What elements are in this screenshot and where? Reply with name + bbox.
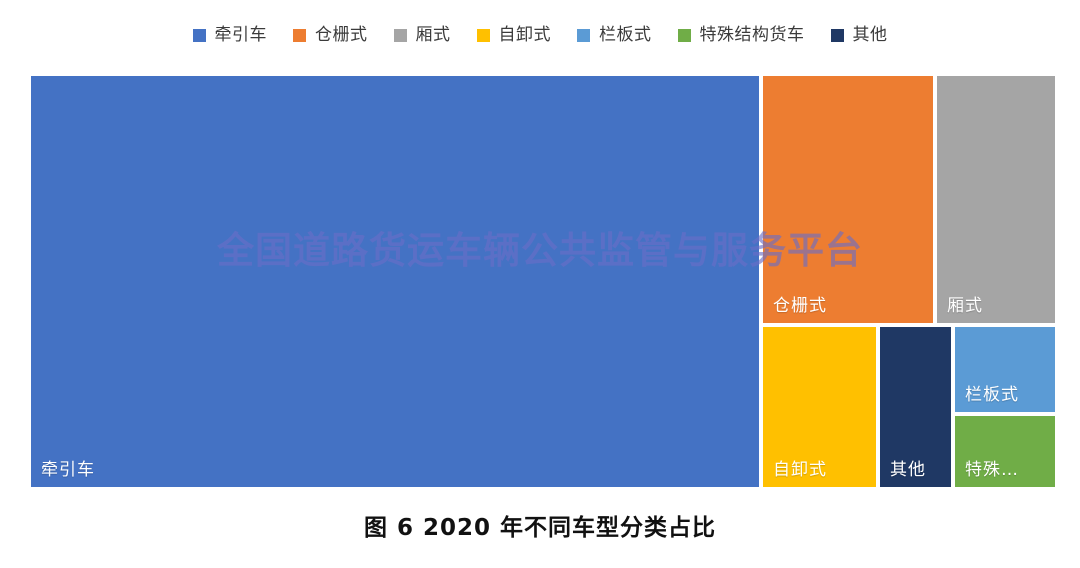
legend-item-label: 牵引车 [215, 27, 268, 44]
legend-item-van[interactable]: 厢式 [394, 27, 451, 44]
legend-swatch-icon [293, 29, 306, 42]
legend-item-label: 栏板式 [599, 27, 652, 44]
treemap-tile-label: 自卸式 [773, 461, 827, 481]
treemap-tile-tractor[interactable]: 牵引车 [31, 76, 759, 487]
legend-item-label: 其他 [853, 27, 888, 44]
legend-item-tractor[interactable]: 牵引车 [193, 27, 268, 44]
treemap-chart: 牵引车 仓栅式 厢式 自卸式 其他 栏板式 特殊… [31, 76, 1055, 487]
treemap-tile-dump[interactable]: 自卸式 [763, 327, 876, 487]
legend-item-label: 仓栅式 [315, 27, 368, 44]
chart-legend: 牵引车 仓栅式 厢式 自卸式 栏板式 特殊结构货车 其他 [0, 22, 1080, 48]
treemap-tile-stake[interactable]: 仓栅式 [763, 76, 933, 323]
treemap-tile-special-structure[interactable]: 特殊… [955, 416, 1055, 487]
legend-swatch-icon [577, 29, 590, 42]
legend-swatch-icon [477, 29, 490, 42]
legend-item-special-structure[interactable]: 特殊结构货车 [678, 27, 805, 44]
legend-item-stake[interactable]: 仓栅式 [293, 27, 368, 44]
treemap-tile-label: 栏板式 [965, 386, 1019, 406]
treemap-tile-van[interactable]: 厢式 [937, 76, 1055, 323]
legend-swatch-icon [678, 29, 691, 42]
treemap-tile-label: 厢式 [947, 297, 983, 317]
figure-caption: 图 6 2020 年不同车型分类占比 [0, 515, 1080, 543]
legend-item-label: 特殊结构货车 [700, 27, 805, 44]
legend-item-dump[interactable]: 自卸式 [477, 27, 552, 44]
treemap-tile-label: 特殊… [965, 461, 1019, 481]
treemap-tile-label: 牵引车 [41, 461, 95, 481]
legend-swatch-icon [394, 29, 407, 42]
legend-item-other[interactable]: 其他 [831, 27, 888, 44]
treemap-tile-label: 其他 [890, 461, 926, 481]
treemap-tile-flatbed[interactable]: 栏板式 [955, 327, 1055, 412]
legend-item-flatbed[interactable]: 栏板式 [577, 27, 652, 44]
legend-item-label: 自卸式 [499, 27, 552, 44]
legend-swatch-icon [831, 29, 844, 42]
treemap-tile-label: 仓栅式 [773, 297, 827, 317]
legend-swatch-icon [193, 29, 206, 42]
treemap-tile-other[interactable]: 其他 [880, 327, 951, 487]
legend-item-label: 厢式 [416, 27, 451, 44]
